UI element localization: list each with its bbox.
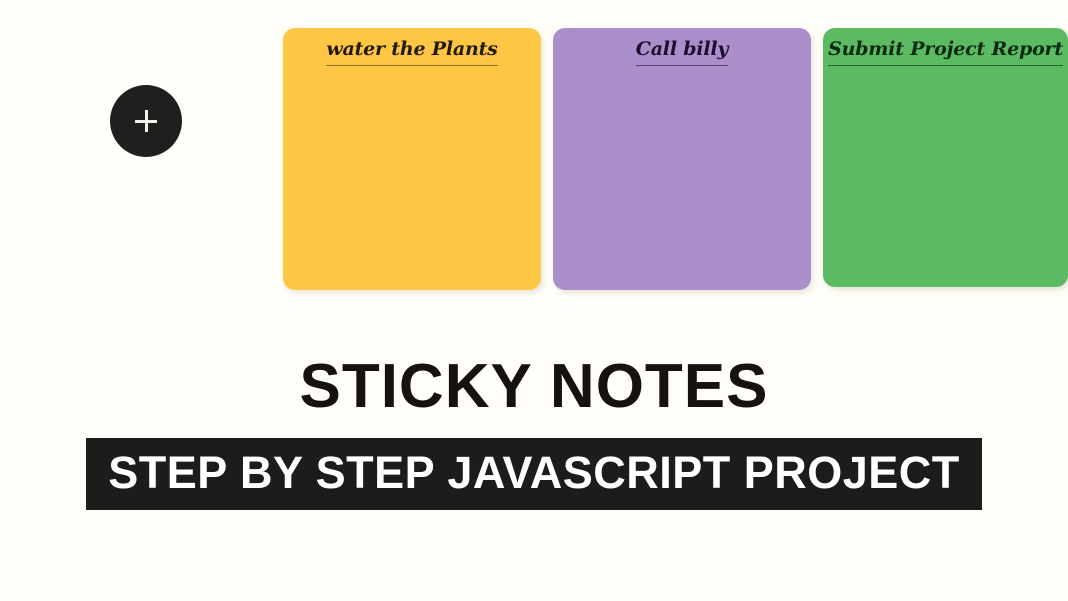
plus-icon xyxy=(135,110,157,132)
note-text-wrapper: water the Plants xyxy=(297,36,527,66)
note-text[interactable]: Call billy xyxy=(636,36,728,66)
sticky-note[interactable]: water the Plants xyxy=(283,28,541,290)
sticky-note[interactable]: Submit Project Report xyxy=(823,28,1068,287)
title-block: STICKY NOTES STEP BY STEP JAVASCRIPT PRO… xyxy=(0,352,1068,510)
sticky-notes-board: water the Plants Call billy Submit Proje… xyxy=(0,0,1068,320)
add-note-button[interactable] xyxy=(110,85,182,157)
note-text-wrapper: Submit Project Report xyxy=(837,36,1054,66)
note-text[interactable]: Submit Project Report xyxy=(828,36,1063,66)
subtitle-banner: STEP BY STEP JAVASCRIPT PROJECT xyxy=(86,438,982,510)
note-text-wrapper: Call billy xyxy=(567,36,797,66)
page-title: STICKY NOTES xyxy=(0,352,1068,422)
note-text[interactable]: water the Plants xyxy=(326,36,497,66)
sticky-note[interactable]: Call billy xyxy=(553,28,811,290)
